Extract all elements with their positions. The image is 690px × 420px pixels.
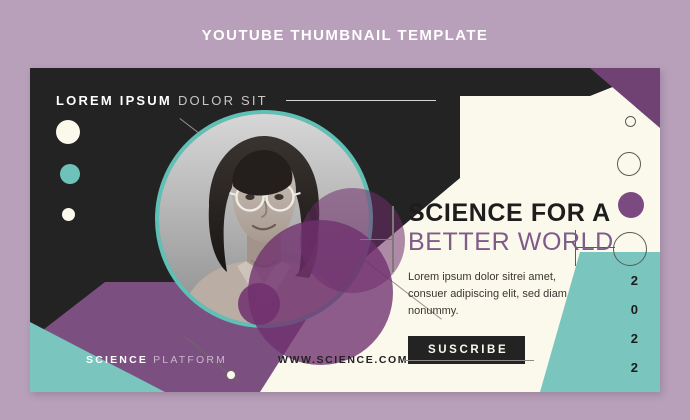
year-digit: 2 (631, 361, 638, 374)
header-rule (286, 100, 436, 101)
outline-circle-medium-icon (617, 152, 641, 176)
brand-header: LOREM IPSUM DOLOR SIT (56, 90, 660, 110)
year-column: 2 0 2 2 (631, 274, 638, 374)
decorative-dot-teal-icon (60, 164, 80, 184)
brand-name-bold: LOREM IPSUM (56, 93, 172, 108)
pointer-dot-icon (226, 370, 236, 380)
body-copy: Lorem ipsum dolor sitrei amet, consuer a… (408, 269, 588, 320)
youtube-thumbnail-card: LOREM IPSUM DOLOR SIT (30, 68, 660, 392)
year-digit: 0 (631, 303, 638, 316)
year-digit: 2 (631, 332, 638, 345)
website-url: WWW.SCIENCE.COM (278, 354, 408, 366)
overlay-circle-small (238, 283, 280, 325)
page-title: YOUTUBE THUMBNAIL TEMPLATE (0, 27, 690, 44)
decorative-dot-small-icon (62, 208, 75, 221)
headline-line-2: BETTER WORLD (408, 228, 623, 256)
website-url-rule (402, 360, 534, 361)
brand-name-light: DOLOR SIT (178, 93, 268, 108)
platform-name-bold: SCIENCE (86, 354, 148, 366)
outline-circle-tiny-icon (625, 116, 636, 127)
year-digit: 2 (631, 274, 638, 287)
platform-name-light: PLATFORM (153, 354, 227, 366)
decorative-dot-cream-icon (56, 120, 80, 144)
headline-divider-tick (360, 239, 394, 240)
platform-label: SCIENCE PLATFORM (86, 354, 227, 366)
headline-line-1: SCIENCE FOR A (408, 200, 623, 227)
headline-content: SCIENCE FOR A BETTER WORLD Lorem ipsum d… (408, 200, 623, 364)
